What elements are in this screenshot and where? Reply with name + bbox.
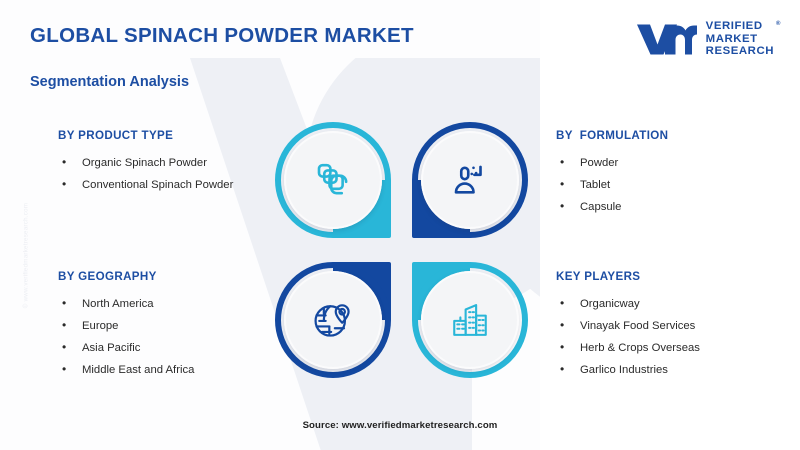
vmr-logo-icon <box>635 19 697 59</box>
segment-formulation-heading: BY FORMULATION <box>556 129 800 142</box>
list-item: Tablet <box>556 174 800 196</box>
segment-key-players-heading: KEY PLAYERS <box>556 270 800 283</box>
segment-icon-cluster <box>275 122 528 378</box>
list-item: Organic Spinach Powder <box>58 152 306 174</box>
segment-formulation: BY FORMULATION Powder Tablet Capsule <box>556 129 800 218</box>
list-item: Capsule <box>556 196 800 218</box>
logo-line-1: VERIFIED <box>706 20 763 32</box>
list-item: Europe <box>58 315 306 337</box>
list-item: Vinayak Food Services <box>556 315 800 337</box>
logo-line-3: RESEARCH <box>706 45 774 57</box>
vertical-copyright-watermark: © www.verifiedmarketresearch.com <box>23 181 30 331</box>
segment-geography: BY GEOGRAPHY North America Europe Asia P… <box>58 270 306 381</box>
icon-badge-geography[interactable] <box>275 262 391 378</box>
logo-wordmark: VERIFIED MARKET RESEARCH ® <box>706 20 774 57</box>
globe-location-pin-icon <box>311 298 355 342</box>
icon-badge-key-players[interactable] <box>412 262 528 378</box>
segment-key-players: KEY PLAYERS Organicway Vinayak Food Serv… <box>556 270 800 381</box>
list-item: Herb & Crops Overseas <box>556 337 800 359</box>
stacked-layers-icon <box>312 159 354 201</box>
icon-badge-formulation[interactable] <box>412 122 528 238</box>
list-item: Garlico Industries <box>556 359 800 381</box>
source-caption: Source: www.verifiedmarketresearch.com <box>0 420 800 431</box>
list-item: Asia Pacific <box>58 337 306 359</box>
segment-geography-heading: BY GEOGRAPHY <box>58 270 306 283</box>
segment-formulation-list: Powder Tablet Capsule <box>556 152 800 218</box>
segment-product-type-heading: BY PRODUCT TYPE <box>58 129 306 142</box>
list-item: Organicway <box>556 293 800 315</box>
city-buildings-icon <box>449 299 491 341</box>
list-item: Middle East and Africa <box>58 359 306 381</box>
list-item: North America <box>58 293 306 315</box>
list-item: Powder <box>556 152 800 174</box>
brand-logo[interactable]: VERIFIED MARKET RESEARCH ® <box>635 19 774 59</box>
page-subtitle: Segmentation Analysis <box>30 74 189 90</box>
user-profile-icon <box>449 159 491 201</box>
segment-product-type-list: Organic Spinach Powder Conventional Spin… <box>58 152 306 196</box>
page-title: GLOBAL SPINACH POWDER MARKET <box>30 24 414 48</box>
icon-badge-product-type[interactable] <box>275 122 391 238</box>
slide-canvas: © www.verifiedmarketresearch.com GLOBAL … <box>0 0 800 450</box>
registered-trademark-icon: ® <box>776 18 781 30</box>
segment-key-players-list: Organicway Vinayak Food Services Herb & … <box>556 293 800 381</box>
logo-line-2: MARKET <box>706 33 758 45</box>
segment-geography-list: North America Europe Asia Pacific Middle… <box>58 293 306 381</box>
list-item: Conventional Spinach Powder <box>58 174 306 196</box>
segment-product-type: BY PRODUCT TYPE Organic Spinach Powder C… <box>58 129 306 196</box>
